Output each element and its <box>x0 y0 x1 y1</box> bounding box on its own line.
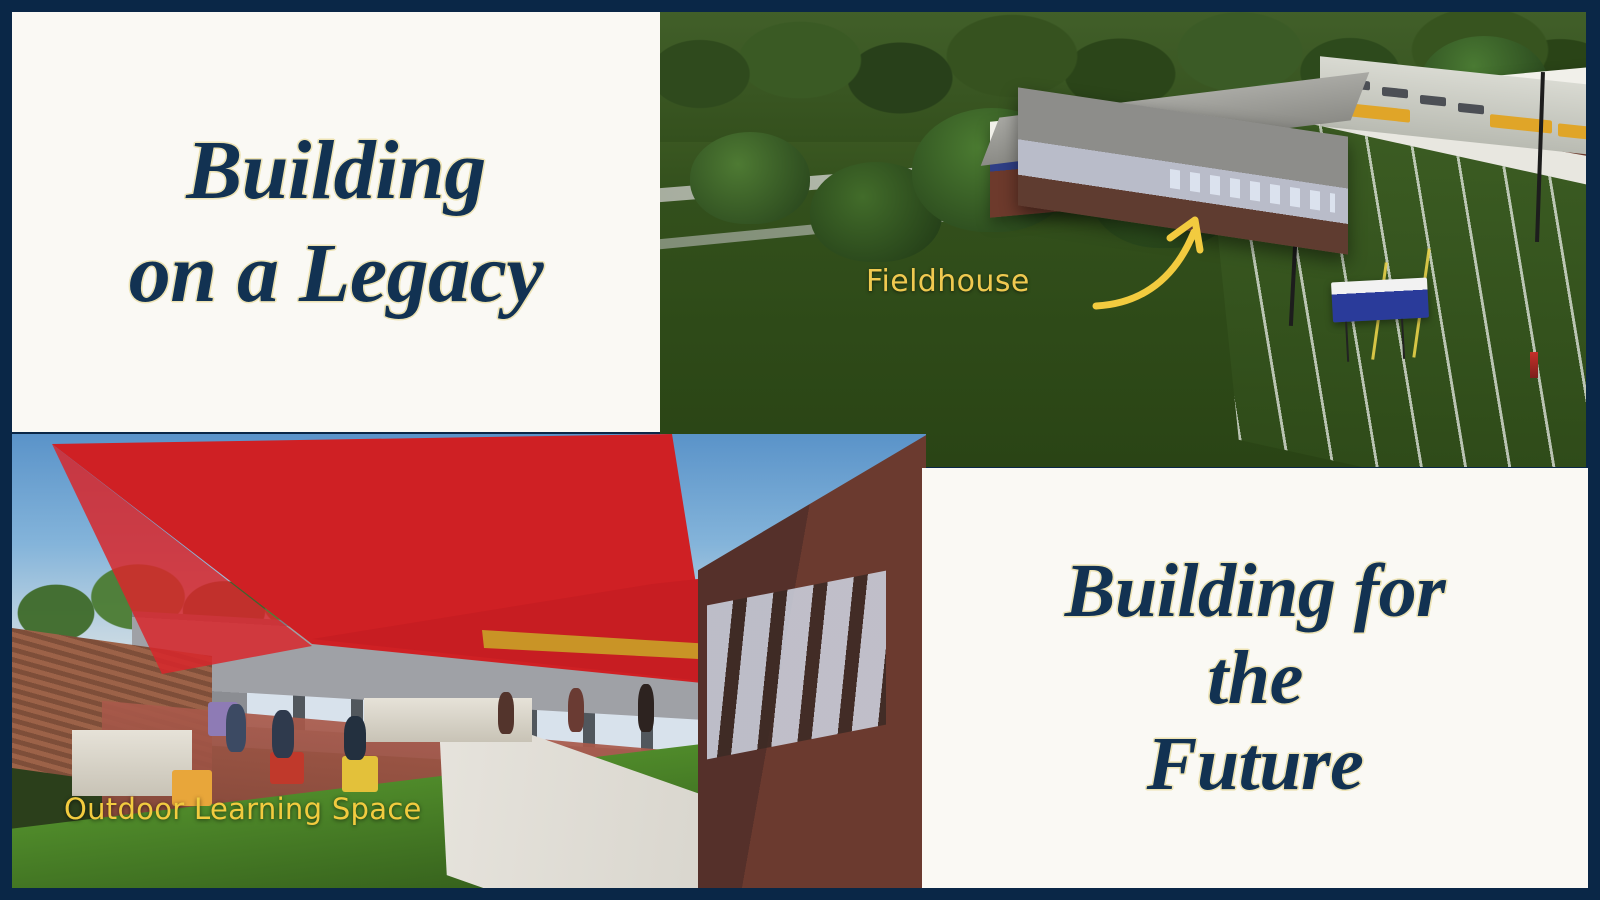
parked-car <box>1420 95 1446 107</box>
parked-car <box>1382 87 1408 99</box>
legacy-title-panel: Building on a Legacy <box>12 12 660 432</box>
future-headline-line3: Future <box>1147 724 1364 805</box>
curved-arrow-up-right-icon <box>1090 198 1220 318</box>
legacy-headline-line2: on a Legacy <box>129 229 543 318</box>
seating-cube <box>342 756 378 792</box>
future-title-panel: Building for the Future <box>922 468 1588 888</box>
aerial-campus-rendering: Fieldhouse <box>660 12 1586 467</box>
legacy-headline-line1: Building <box>186 126 485 215</box>
student-figure <box>568 688 584 732</box>
school-bus <box>1558 123 1586 143</box>
fieldhouse-caption: Fieldhouse <box>866 264 1030 299</box>
student-figure <box>498 692 514 734</box>
student-figure <box>638 684 654 732</box>
scoreboard-sign <box>1331 278 1429 323</box>
school-bus <box>1348 103 1410 123</box>
future-headline-line1: Building for <box>1065 551 1445 632</box>
field-pylon <box>1530 352 1538 378</box>
poster-canvas: Fieldhouse <box>0 0 1600 900</box>
student-figure <box>272 710 294 758</box>
parked-car <box>1458 103 1484 115</box>
outdoor-learning-caption: Outdoor Learning Space <box>64 792 422 826</box>
courtyard-rendering: Outdoor Learning Space <box>12 434 926 888</box>
student-figure <box>226 704 246 752</box>
brick-building-windows <box>707 571 886 760</box>
student-figure <box>344 716 366 760</box>
tree <box>690 132 810 224</box>
future-headline-line2: the <box>1207 638 1303 719</box>
